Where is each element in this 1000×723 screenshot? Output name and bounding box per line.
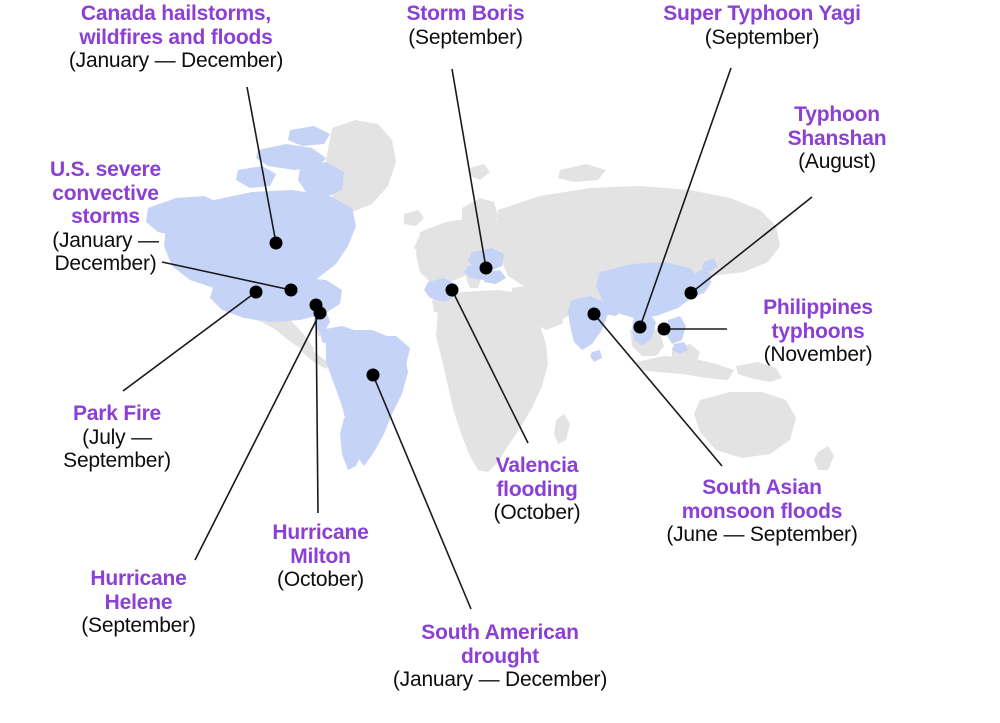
label-valencia-flooding: Valencia flooding(October) (457, 454, 617, 525)
label-date-super-typhoon-yagi: (September) (617, 26, 907, 50)
label-canada-hailstorms: Canada hailstorms, wildfires and floods(… (31, 2, 321, 73)
label-title-philippines-typhoons: Philippines typhoons (723, 296, 913, 343)
label-south-american-drought: South American drought(January — Decembe… (355, 621, 645, 692)
label-title-super-typhoon-yagi: Super Typhoon Yagi (617, 2, 907, 26)
weather-events-map-figure: Canada hailstorms, wildfires and floods(… (0, 0, 1000, 723)
label-date-park-fire: (July — September) (22, 426, 212, 473)
label-south-asian-monsoon-floods: South Asian monsoon floods(June — Septem… (633, 476, 891, 547)
label-philippines-typhoons: Philippines typhoons(November) (723, 296, 913, 367)
label-date-typhoon-shanshan: (August) (742, 150, 932, 174)
label-storm-boris: Storm Boris(September) (368, 2, 563, 49)
label-title-hurricane-helene: Hurricane Helene (46, 567, 231, 614)
label-title-south-asian-monsoon-floods: South Asian monsoon floods (633, 476, 891, 523)
label-title-south-american-drought: South American drought (355, 621, 645, 668)
label-title-storm-boris: Storm Boris (368, 2, 563, 26)
label-date-valencia-flooding: (October) (457, 501, 617, 525)
label-park-fire: Park Fire(July — September) (22, 402, 212, 473)
label-us-severe-convective-storms: U.S. severe convective storms(January — … (18, 158, 193, 276)
event-labels: Canada hailstorms, wildfires and floods(… (0, 0, 1000, 723)
label-date-us-severe-convective-storms: (January — December) (18, 229, 193, 276)
label-date-canada-hailstorms: (January — December) (31, 49, 321, 73)
label-hurricane-helene: Hurricane Helene(September) (46, 567, 231, 638)
label-super-typhoon-yagi: Super Typhoon Yagi(September) (617, 2, 907, 49)
label-hurricane-milton: Hurricane Milton(October) (238, 521, 403, 592)
label-title-us-severe-convective-storms: U.S. severe convective storms (18, 158, 193, 229)
label-title-typhoon-shanshan: Typhoon Shanshan (742, 103, 932, 150)
label-date-hurricane-helene: (September) (46, 614, 231, 638)
label-title-canada-hailstorms: Canada hailstorms, wildfires and floods (31, 2, 321, 49)
label-date-south-asian-monsoon-floods: (June — September) (633, 523, 891, 547)
label-title-park-fire: Park Fire (22, 402, 212, 426)
label-date-philippines-typhoons: (November) (723, 343, 913, 367)
label-date-south-american-drought: (January — December) (355, 668, 645, 692)
label-title-hurricane-milton: Hurricane Milton (238, 521, 403, 568)
label-title-valencia-flooding: Valencia flooding (457, 454, 617, 501)
label-date-storm-boris: (September) (368, 26, 563, 50)
label-typhoon-shanshan: Typhoon Shanshan(August) (742, 103, 932, 174)
label-date-hurricane-milton: (October) (238, 568, 403, 592)
